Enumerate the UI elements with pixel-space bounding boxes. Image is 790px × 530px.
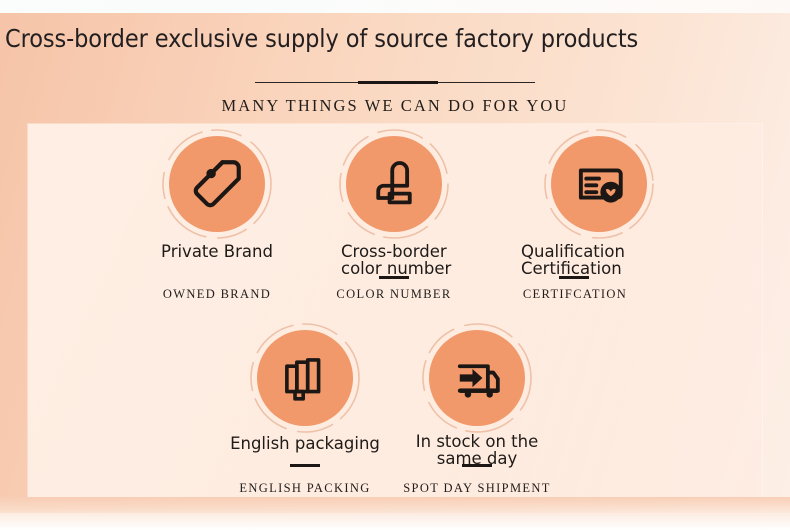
icon-circle bbox=[169, 136, 265, 232]
icon-circle bbox=[257, 330, 353, 426]
page-subtitle: MANY THINGS WE CAN DO FOR YOU bbox=[0, 96, 790, 116]
feature-english-packaging[interactable] bbox=[225, 322, 385, 434]
certificate-badge-icon bbox=[570, 155, 628, 213]
tag-icon bbox=[188, 155, 246, 213]
package-bundle-icon bbox=[276, 349, 334, 407]
page-title: Cross-border exclusive supply of source … bbox=[5, 24, 638, 53]
feature-label-same-day-stock: In stock on the same day bbox=[377, 434, 577, 467]
icon-circle-wrap bbox=[338, 128, 450, 240]
feature-label-certification: Qualification Certification bbox=[521, 244, 711, 277]
feature-sublabel-certification: CERTIFCATION bbox=[465, 287, 685, 302]
feature-label-english-packaging: English packaging bbox=[205, 436, 405, 453]
feature-color-number[interactable] bbox=[314, 128, 474, 240]
icon-circle-wrap bbox=[421, 322, 533, 434]
icon-circle bbox=[346, 136, 442, 232]
feature-label-line2: Certification bbox=[521, 259, 622, 278]
icon-circle-wrap bbox=[161, 128, 273, 240]
header-divider bbox=[255, 80, 535, 86]
feature-same-day-stock[interactable] bbox=[397, 322, 557, 434]
delivery-truck-icon bbox=[448, 349, 506, 407]
feature-rule-same-day-stock bbox=[462, 464, 492, 467]
icon-circle bbox=[429, 330, 525, 426]
feature-private-brand[interactable] bbox=[137, 128, 297, 240]
divider-thick-segment bbox=[358, 81, 438, 84]
arrow-in-icon bbox=[460, 369, 483, 387]
banner-canvas: Cross-border exclusive supply of source … bbox=[0, 0, 790, 530]
feature-rule-english-packaging bbox=[290, 464, 320, 467]
feature-label-private-brand: Private Brand bbox=[117, 244, 317, 261]
lipstick-icon bbox=[366, 156, 422, 212]
truck-wheel-icon bbox=[465, 391, 472, 398]
feature-sublabel-same-day-stock: SPOT DAY SHIPMENT bbox=[367, 481, 587, 496]
feature-rule-color-number bbox=[379, 276, 409, 279]
tag-hole-icon bbox=[206, 169, 215, 178]
icon-circle bbox=[551, 136, 647, 232]
icon-circle-wrap bbox=[543, 128, 655, 240]
feature-label-line2: color number bbox=[341, 259, 451, 278]
feature-rule-certification bbox=[559, 276, 589, 279]
feature-certification[interactable] bbox=[519, 128, 679, 240]
truck-wheel-icon bbox=[486, 391, 493, 398]
bottom-fade bbox=[0, 497, 790, 530]
top-white-strip bbox=[0, 0, 790, 13]
icon-circle-wrap bbox=[249, 322, 361, 434]
feature-label-color-number: Cross-border color number bbox=[341, 244, 529, 277]
